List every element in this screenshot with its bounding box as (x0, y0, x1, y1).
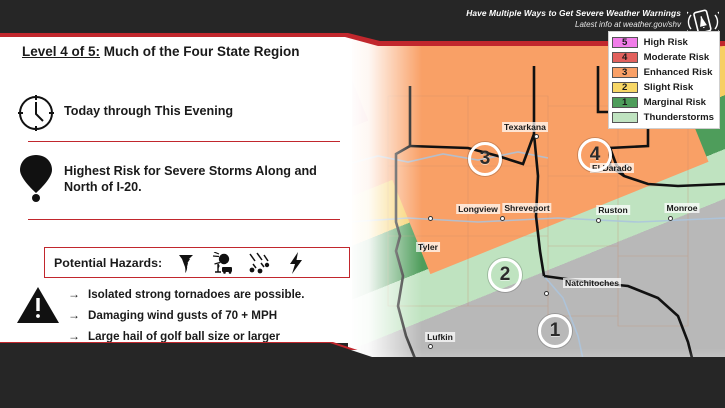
warning-promo: Have Multiple Ways to Get Severe Weather… (466, 8, 681, 29)
map-pin-icon (16, 151, 56, 203)
city-label: Tyler (416, 242, 440, 252)
legend-swatch: 1 (612, 97, 638, 108)
risk-legend: 5High Risk4Moderate Risk3Enhanced Risk2S… (608, 31, 720, 129)
hazard-bullet: Damaging wind gusts of 70 + MPH (88, 309, 277, 322)
city-marker (428, 344, 433, 349)
legend-row-slight-risk: 2Slight Risk (612, 80, 714, 95)
legend-swatch: 3 (612, 67, 638, 78)
city-label: Monroe (664, 203, 699, 213)
hazard-bullet: Large hail of golf ball size or larger (88, 330, 280, 343)
tornado-icon (176, 252, 196, 274)
legend-label: Slight Risk (644, 82, 694, 93)
legend-swatch: 5 (612, 37, 638, 48)
potential-hazards-label: Potential Hazards: (54, 256, 162, 270)
bullet-arrow-icon: → (68, 287, 80, 301)
risk-level-marker-3: 3 (468, 142, 502, 176)
city-label: Lufkin (425, 332, 455, 342)
city-marker (544, 291, 549, 296)
city-marker (500, 216, 505, 221)
city-label: Texarkana (502, 122, 548, 132)
city-label: Longview (456, 204, 500, 214)
city-marker (596, 218, 601, 223)
potential-hazards-box: Potential Hazards: (44, 247, 350, 278)
lightning-icon (288, 252, 304, 274)
divider-1 (28, 141, 340, 142)
warning-triangle-icon (16, 285, 60, 325)
legend-swatch: 2 (612, 82, 638, 93)
promo-line-2: Latest info at weather.gov/shv (466, 20, 681, 29)
map-left-fade (348, 36, 422, 382)
risk-level-marker-1: 1 (538, 314, 572, 348)
divider-2 (28, 219, 340, 220)
legend-label: Marginal Risk (644, 97, 706, 108)
legend-row-enhanced-risk: 3Enhanced Risk (612, 65, 714, 80)
risk-level-text: Level 4 of 5: (22, 44, 100, 59)
legend-swatch: 4 (612, 52, 638, 63)
legend-label: Thunderstorms (644, 112, 714, 123)
legend-row-moderate-risk: 4Moderate Risk (612, 50, 714, 65)
promo-line-1: Have Multiple Ways to Get Severe Weather… (466, 8, 681, 18)
city-label: Natchitoches (563, 278, 621, 288)
city-marker (428, 216, 433, 221)
hail-icon (248, 252, 274, 274)
risk-area-text: Much of the Four State Region (100, 44, 300, 59)
city-label: Ruston (596, 205, 630, 215)
legend-label: Enhanced Risk (644, 67, 713, 78)
city-marker (668, 216, 673, 221)
risk-level-marker-2: 2 (488, 258, 522, 292)
timing-text: Today through This Evening (64, 103, 233, 119)
bullet-arrow-icon: → (68, 329, 80, 343)
legend-label: Moderate Risk (644, 52, 710, 63)
city-label: Shreveport (502, 203, 551, 213)
hazard-bullet: Isolated strong tornadoes are possible. (88, 288, 304, 301)
location-text: Highest Risk for Severe Storms Along and… (64, 163, 344, 195)
legend-label: High Risk (644, 37, 688, 48)
risk-level-marker-4: 4 (578, 138, 612, 172)
legend-swatch (612, 112, 638, 123)
weather-graphic: TexarkanaEl DaradoLongviewShreveportRust… (0, 0, 725, 408)
bullet-arrow-icon: → (68, 308, 80, 322)
city-marker (534, 134, 539, 139)
legend-row-high-risk: 5High Risk (612, 35, 714, 50)
legend-row-marginal-risk: 1Marginal Risk (612, 95, 714, 110)
info-panel: Today through This Evening Highest Risk … (0, 37, 352, 343)
damaging-wind-icon (210, 252, 234, 274)
clock-icon (12, 89, 60, 137)
legend-row-thunderstorms: Thunderstorms (612, 110, 714, 125)
page-subtitle: Level 4 of 5: Much of the Four State Reg… (22, 44, 300, 59)
